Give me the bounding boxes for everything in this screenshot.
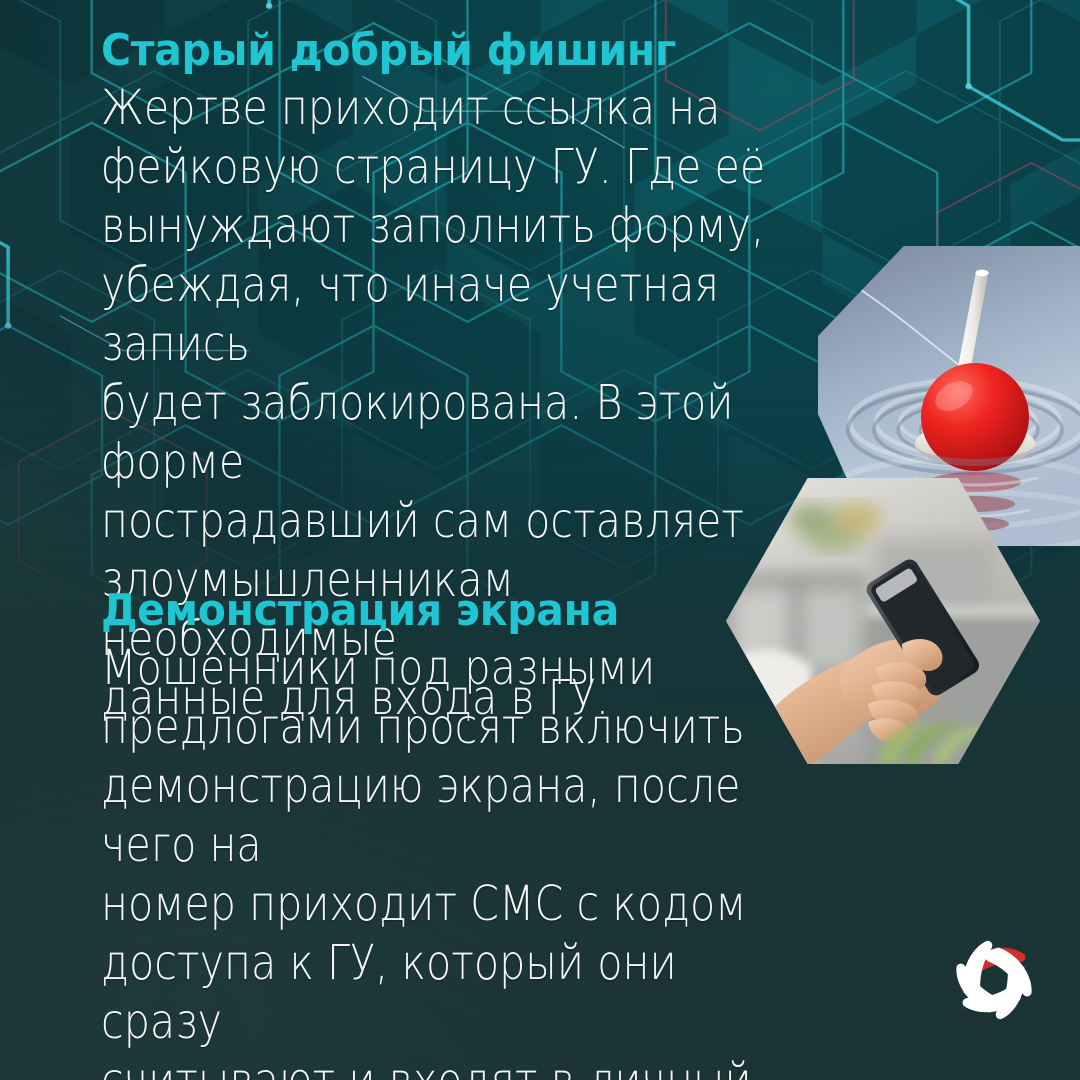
section-phishing-heading: Старый добрый фишинг (101, 28, 845, 75)
section-screen-demo-body: Мошенники под разными предлогами просят … (101, 635, 798, 1080)
pinwheel-aperture-logo (940, 926, 1048, 1034)
content-layer: Старый добрый фишинг Жертве приходит ссы… (0, 0, 1080, 1080)
section-screen-demo: Демонстрация экрана Мошенники под разным… (101, 588, 911, 1080)
section-screen-demo-heading: Демонстрация экрана (101, 588, 854, 635)
infographic-slide: Старый добрый фишинг Жертве приходит ссы… (0, 0, 1080, 1080)
